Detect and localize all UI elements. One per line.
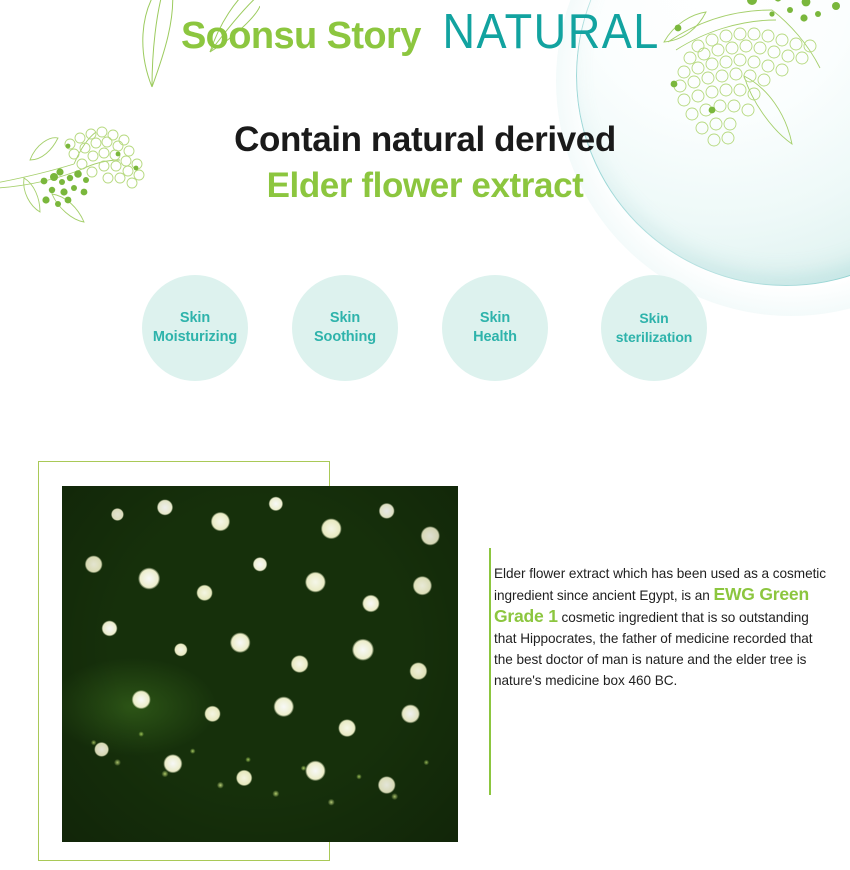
benefit-label: Skinsterilization — [616, 309, 693, 347]
page-title: Soonsu StoryNATURAL — [0, 4, 850, 60]
benefit-circle-sterilization[interactable]: Skinsterilization — [601, 275, 707, 381]
title-keyword: NATURAL — [442, 4, 659, 60]
headline-line-2: Elder flower extract — [0, 162, 850, 210]
benefit-label: SkinSoothing — [314, 309, 376, 347]
description-text: Elder flower extract which has been used… — [494, 563, 832, 691]
photo-vignette — [62, 486, 458, 842]
description-accent-rule — [489, 548, 491, 795]
benefit-circle-health[interactable]: SkinHealth — [442, 275, 548, 381]
benefit-circle-soothing[interactable]: SkinSoothing — [292, 275, 398, 381]
benefit-label: SkinMoisturizing — [153, 309, 237, 347]
benefit-circle-group: SkinMoisturizing SkinSoothing SkinHealth… — [142, 275, 762, 385]
headline: Contain natural derived Elder flower ext… — [0, 118, 850, 210]
benefit-circle-moisturizing[interactable]: SkinMoisturizing — [142, 275, 248, 381]
headline-line-1: Contain natural derived — [0, 118, 850, 162]
elder-flower-photo — [62, 486, 458, 842]
brand-name: Soonsu Story — [181, 15, 421, 57]
benefit-label: SkinHealth — [473, 309, 517, 347]
